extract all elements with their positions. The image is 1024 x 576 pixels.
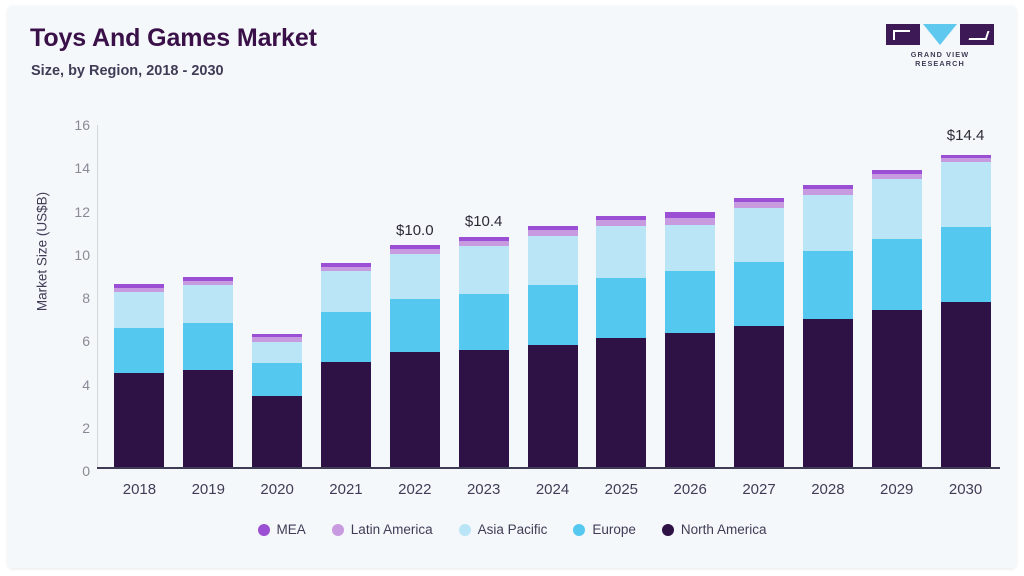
- bar-segment-north-america[interactable]: [665, 333, 715, 467]
- legend-label: Europe: [592, 522, 636, 537]
- bar-segment-europe[interactable]: [114, 328, 164, 373]
- bar-segment-north-america[interactable]: [459, 350, 509, 467]
- bar-segment-north-america[interactable]: [941, 302, 991, 467]
- bar-segment-north-america[interactable]: [803, 319, 853, 467]
- bar-segment-asia-pacific[interactable]: [803, 195, 853, 251]
- legend-swatch-icon: [459, 524, 471, 536]
- bar-segment-asia-pacific[interactable]: [872, 179, 922, 238]
- legend-item-europe[interactable]: Europe: [573, 522, 636, 537]
- bar-segment-europe[interactable]: [803, 251, 853, 319]
- y-axis-tick-14: 14: [54, 160, 90, 176]
- y-axis-tick-10: 10: [54, 247, 90, 263]
- chart: Market Size (US$B) 0246810121416 $10.0$1…: [8, 6, 1016, 568]
- bar-2029[interactable]: [872, 170, 922, 467]
- bar-segment-europe[interactable]: [390, 299, 440, 352]
- bar-segment-north-america[interactable]: [321, 362, 371, 467]
- bar-2019[interactable]: [183, 277, 233, 467]
- bar-2021[interactable]: [321, 263, 371, 467]
- bar-segment-asia-pacific[interactable]: [252, 342, 302, 364]
- legend-label: MEA: [277, 522, 306, 537]
- screenshot-root: Toys And Games Market Size, by Region, 2…: [0, 0, 1024, 576]
- bar-segment-north-america[interactable]: [390, 352, 440, 467]
- bar-segment-europe[interactable]: [321, 312, 371, 362]
- bar-value-label-2022: $10.0: [396, 222, 434, 239]
- bar-value-label-2030: $14.4: [947, 127, 985, 144]
- x-axis-tick-2023: 2023: [467, 481, 500, 498]
- bar-segment-asia-pacific[interactable]: [183, 285, 233, 323]
- x-axis-tick-2018: 2018: [123, 481, 156, 498]
- x-axis-line: [97, 467, 1000, 469]
- bar-2023[interactable]: [459, 237, 509, 467]
- bar-segment-asia-pacific[interactable]: [528, 236, 578, 286]
- legend-swatch-icon: [258, 524, 270, 536]
- bar-2030[interactable]: [941, 155, 991, 467]
- chart-card: Toys And Games Market Size, by Region, 2…: [8, 6, 1016, 568]
- bar-segment-europe[interactable]: [528, 285, 578, 344]
- legend-item-north-america[interactable]: North America: [662, 522, 767, 537]
- bar-2025[interactable]: [596, 216, 646, 467]
- bar-segment-north-america[interactable]: [183, 370, 233, 467]
- legend-item-latin-america[interactable]: Latin America: [332, 522, 433, 537]
- x-axis-tick-2026: 2026: [674, 481, 707, 498]
- y-axis-tick-4: 4: [54, 377, 90, 393]
- x-axis-tick-2028: 2028: [811, 481, 844, 498]
- legend-item-asia-pacific[interactable]: Asia Pacific: [459, 522, 548, 537]
- bar-segment-asia-pacific[interactable]: [390, 254, 440, 299]
- bar-segment-north-america[interactable]: [872, 310, 922, 467]
- bar-value-label-2023: $10.4: [465, 213, 503, 230]
- bar-segment-asia-pacific[interactable]: [941, 162, 991, 227]
- bar-segment-europe[interactable]: [596, 278, 646, 339]
- bar-segment-north-america[interactable]: [252, 396, 302, 467]
- x-axis-tick-2030: 2030: [949, 481, 982, 498]
- bar-2024[interactable]: [528, 226, 578, 467]
- bar-2022[interactable]: [390, 245, 440, 467]
- x-axis-tick-2021: 2021: [329, 481, 362, 498]
- plot-area: $10.0$10.4$14.4: [105, 121, 1000, 467]
- legend-label: Asia Pacific: [478, 522, 548, 537]
- y-axis-tick-8: 8: [54, 290, 90, 306]
- y-axis-title: Market Size (US$B): [35, 152, 50, 352]
- bar-segment-asia-pacific[interactable]: [114, 292, 164, 328]
- bar-segment-europe[interactable]: [941, 227, 991, 302]
- bar-segment-north-america[interactable]: [734, 326, 784, 467]
- bar-segment-north-america[interactable]: [528, 345, 578, 467]
- bar-segment-asia-pacific[interactable]: [596, 226, 646, 278]
- y-axis-tick-12: 12: [54, 204, 90, 220]
- legend-swatch-icon: [662, 524, 674, 536]
- y-axis-tick-6: 6: [54, 333, 90, 349]
- bar-segment-asia-pacific[interactable]: [665, 225, 715, 271]
- bar-segment-asia-pacific[interactable]: [734, 208, 784, 262]
- y-axis-tick-0: 0: [54, 463, 90, 479]
- legend-label: Latin America: [351, 522, 433, 537]
- y-axis-line: [97, 125, 98, 467]
- x-axis-tick-2029: 2029: [880, 481, 913, 498]
- x-axis-tick-2027: 2027: [742, 481, 775, 498]
- bar-segment-europe[interactable]: [183, 323, 233, 369]
- bar-2028[interactable]: [803, 185, 853, 467]
- x-axis-tick-2024: 2024: [536, 481, 569, 498]
- legend-swatch-icon: [573, 524, 585, 536]
- bar-2026[interactable]: [665, 212, 715, 467]
- bar-2027[interactable]: [734, 198, 784, 467]
- bar-segment-north-america[interactable]: [114, 373, 164, 467]
- bar-segment-europe[interactable]: [665, 271, 715, 333]
- bar-segment-europe[interactable]: [872, 239, 922, 310]
- x-axis-tick-2025: 2025: [605, 481, 638, 498]
- bar-2018[interactable]: [114, 284, 164, 467]
- bar-segment-north-america[interactable]: [596, 338, 646, 467]
- legend-label: North America: [681, 522, 767, 537]
- legend-item-mea[interactable]: MEA: [258, 522, 306, 537]
- bar-segment-europe[interactable]: [459, 294, 509, 350]
- x-axis-tick-2019: 2019: [192, 481, 225, 498]
- x-axis-tick-2022: 2022: [398, 481, 431, 498]
- y-axis-tick-16: 16: [54, 117, 90, 133]
- y-axis-tick-2: 2: [54, 420, 90, 436]
- bar-segment-europe[interactable]: [734, 262, 784, 327]
- bar-segment-asia-pacific[interactable]: [321, 271, 371, 312]
- chart-legend: MEALatin AmericaAsia PacificEuropeNorth …: [8, 522, 1016, 537]
- legend-swatch-icon: [332, 524, 344, 536]
- x-axis-tick-2020: 2020: [260, 481, 293, 498]
- bar-segment-europe[interactable]: [252, 363, 302, 395]
- bar-segment-asia-pacific[interactable]: [459, 246, 509, 294]
- bar-2020[interactable]: [252, 334, 302, 467]
